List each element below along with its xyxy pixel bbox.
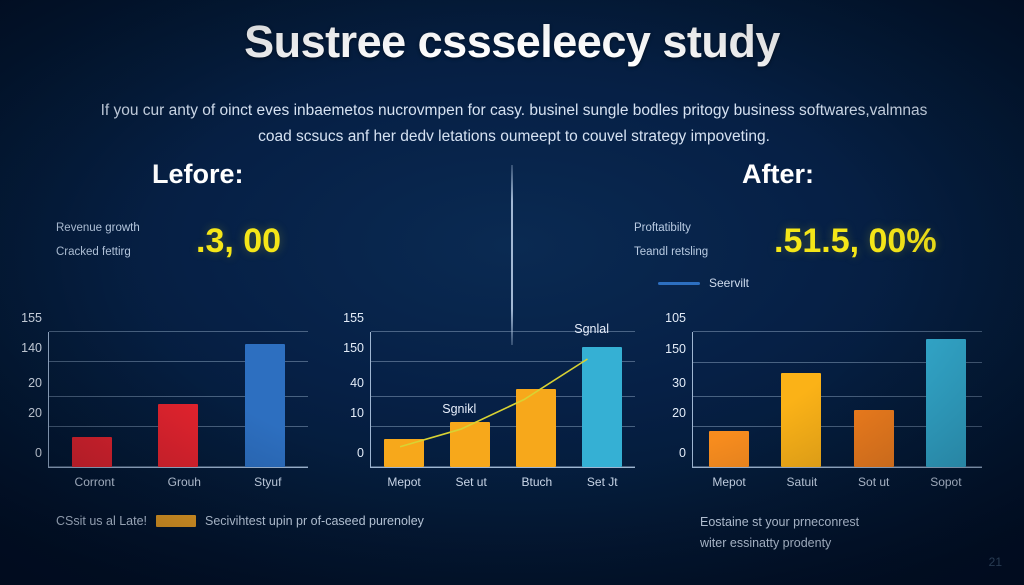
chart-right: 10515030200 MepotSatuitSot utSopot (652, 332, 982, 489)
after-metric-labels: Proftatibilty Teandl retsling (634, 216, 708, 264)
bar[interactable] (516, 389, 556, 467)
bar[interactable] (926, 339, 966, 467)
color-swatch-icon (156, 515, 196, 527)
bar[interactable] (245, 344, 285, 467)
x-axis-tick-label: Set Jt (587, 475, 618, 489)
x-axis-tick-label: Grouh (168, 475, 201, 489)
before-metric-label-1: Cracked fettirg (56, 240, 140, 264)
y-axis-tick-label: 140 (21, 341, 49, 355)
y-axis-tick-label: 20 (672, 406, 693, 420)
bar[interactable] (582, 347, 622, 467)
chart-annotation: Sgnlal (574, 322, 609, 336)
y-axis-tick-label: 155 (343, 311, 371, 325)
page-title: Sustree cssseleecy study (0, 16, 1024, 68)
y-axis-tick-label: 150 (343, 341, 371, 355)
y-axis-tick-label: 0 (679, 446, 693, 460)
x-axis-tick-label: Btuch (522, 475, 553, 489)
y-axis-tick-label: 155 (21, 311, 49, 325)
chart-right-plot: 10515030200 (692, 332, 982, 468)
y-axis-tick-label: 105 (665, 311, 693, 325)
after-legend: Seervilt (658, 276, 749, 290)
bar-column[interactable] (158, 332, 198, 467)
x-axis-tick-label: Sot ut (858, 475, 889, 489)
after-metric-label-1: Teandl retsling (634, 240, 708, 264)
y-axis-tick-label: 150 (665, 342, 693, 356)
bar-column[interactable] (384, 332, 424, 467)
bar-column[interactable] (516, 332, 556, 467)
y-axis-tick-label: 20 (28, 406, 49, 420)
after-metric-label-0: Proftatibilty (634, 216, 708, 240)
x-axis-tick-label: Satuit (787, 475, 818, 489)
bar[interactable] (854, 410, 894, 467)
after-kpi-value: .51.5, 00% (774, 222, 937, 261)
bar-column[interactable] (450, 332, 490, 467)
before-metric-labels: Revenue growth Cracked fettirg (56, 216, 140, 264)
bar-column[interactable] (72, 332, 112, 467)
x-axis-tick-label: Sopot (930, 475, 961, 489)
y-axis-tick-label: 30 (672, 376, 693, 390)
chart-left-xlabels: CorrontGrouhStyuf (48, 468, 308, 489)
bar[interactable] (709, 431, 749, 467)
footer-right-line-1: Eostaine st your prneconrest (700, 512, 859, 533)
x-axis-tick-label: Set ut (455, 475, 486, 489)
chart-annotation: Sgnikl (442, 402, 476, 416)
x-axis-tick-label: Styuf (254, 475, 281, 489)
x-axis-tick-label: Corront (75, 475, 115, 489)
chart-middle-plot: 15515040100SgniklSgnlal (370, 332, 635, 468)
footer-left-text-after: Secivihtest upin pr of-caseed purenoley (205, 514, 424, 528)
bar-column[interactable] (926, 332, 966, 467)
page-subtitle: If you cur anty of oinct eves inbaemetos… (96, 98, 932, 150)
slide-root: Sustree cssseleecy study If you cur anty… (0, 0, 1024, 585)
footer-left: CSsit us al Late! Secivihtest upin pr of… (56, 514, 424, 528)
bar-group (371, 332, 635, 467)
y-axis-tick-label: 40 (350, 376, 371, 390)
bar[interactable] (72, 437, 112, 467)
chart-left: 15514020200 CorrontGrouhStyuf (8, 332, 308, 489)
footer-right-line-2: witer essinatty prodenty (700, 533, 859, 554)
after-heading: After: (742, 159, 814, 190)
bar-group (693, 332, 982, 467)
before-metric-label-0: Revenue growth (56, 216, 140, 240)
bar[interactable] (781, 373, 821, 468)
chart-left-plot: 15514020200 (48, 332, 308, 468)
y-axis-tick-label: 0 (357, 446, 371, 460)
chart-middle: 15515040100SgniklSgnlal MepotSet utBtuch… (330, 332, 635, 489)
chart-right-xlabels: MepotSatuitSot utSopot (692, 468, 982, 489)
bar-column[interactable] (709, 332, 749, 467)
bar[interactable] (158, 404, 198, 467)
footer-left-text-before: CSsit us al Late! (56, 514, 147, 528)
bar-column[interactable] (781, 332, 821, 467)
before-heading: Lefore: (152, 159, 244, 190)
section-divider (511, 165, 513, 345)
bar-column[interactable] (245, 332, 285, 467)
x-axis-tick-label: Mepot (387, 475, 420, 489)
line-swatch-icon (658, 282, 700, 285)
y-axis-tick-label: 0 (35, 446, 49, 460)
bar-column[interactable] (582, 332, 622, 467)
bar-group (49, 332, 308, 467)
footer-right: Eostaine st your prneconrest witer essin… (700, 512, 859, 554)
bar[interactable] (450, 422, 490, 467)
y-axis-tick-label: 20 (28, 376, 49, 390)
bar-column[interactable] (854, 332, 894, 467)
bar[interactable] (384, 439, 424, 467)
chart-middle-xlabels: MepotSet utBtuchSet Jt (370, 468, 635, 489)
y-axis-tick-label: 10 (350, 406, 371, 420)
after-legend-label: Seervilt (709, 276, 749, 290)
before-kpi-value: .3, 00 (196, 222, 281, 261)
x-axis-tick-label: Mepot (712, 475, 745, 489)
page-number: 21 (989, 555, 1002, 569)
